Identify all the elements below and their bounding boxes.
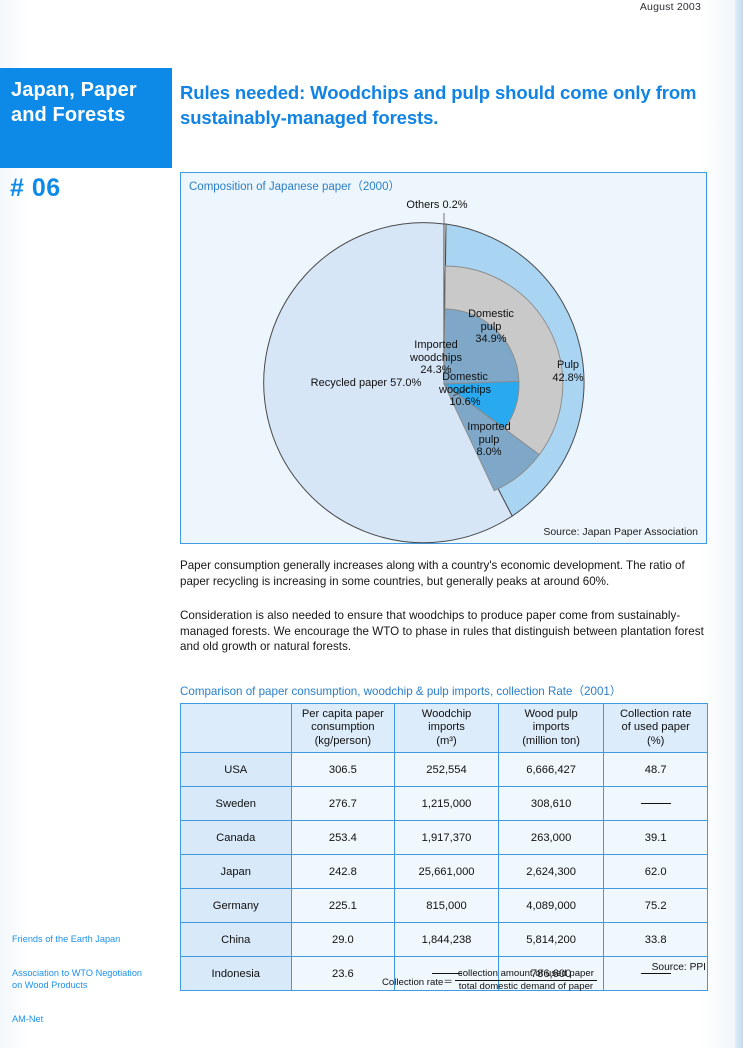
cell-country: Japan [181,855,292,889]
cell-wood-pulp-imports: 4,089,000 [498,889,604,923]
cell-per-capita: 242.8 [291,855,395,889]
cell-per-capita: 23.6 [291,957,395,991]
table-title: Comparison of paper consumption, woodchi… [180,683,621,699]
table-row: USA 306.5 252,554 6,666,427 48.7 [181,753,708,787]
cell-country: Sweden [181,787,292,821]
table-header-wood-pulp-imports: Wood pulp imports (million ton) [498,704,604,753]
collection-rate-formula: Collection rate＝ collection amount of us… [382,968,597,993]
sidebar-footer-am-net: AM-Net [12,1014,43,1026]
brand-title: Japan, Paper and Forests [11,78,172,128]
comparison-table: Per capita paper consumption (kg/person)… [180,703,708,991]
body-paragraph-1: Paper consumption generally increases al… [180,558,707,589]
cell-per-capita: 306.5 [291,753,395,787]
formula-lead: Collection rate＝ [382,974,455,988]
chart-panel: Composition of Japanese paper（2000） Ot [180,172,707,544]
cell-wood-pulp-imports: 2,624,300 [498,855,604,889]
table-header-row: Per capita paper consumption (kg/person)… [181,704,708,753]
cell-country: USA [181,753,292,787]
table-header-woodchip-imports: Woodchip imports (m³) [395,704,499,753]
cell-woodchip-imports: 252,554 [395,753,499,787]
page-headline: Rules needed: Woodchips and pulp should … [180,80,720,130]
cell-woodchip-imports: 815,000 [395,889,499,923]
cell-collection-rate: 48.7 [604,753,708,787]
pie-label-imported-pulp: Imported pulp 8.0% [453,421,525,459]
cell-country: Germany [181,889,292,923]
chart-source: Source: Japan Paper Association [543,526,698,538]
pie-chart: Others 0.2% Recycled paper 57.0% Pulp 42… [181,173,708,545]
cell-collection-rate: 75.2 [604,889,708,923]
pie-label-pulp: Pulp 42.8% [533,359,603,384]
cell-collection-rate [604,787,708,821]
table-row: Germany 225.1 815,000 4,089,000 75.2 [181,889,708,923]
table-header-per-capita: Per capita paper consumption (kg/person) [291,704,395,753]
cell-collection-rate: 62.0 [604,855,708,889]
issue-number: # 06 [10,174,61,203]
table-row: Japan 242.8 25,661,000 2,624,300 62.0 [181,855,708,889]
cell-woodchip-imports: 1,917,370 [395,821,499,855]
cell-country: Indonesia [181,957,292,991]
dash-mark [641,803,671,804]
cell-woodchip-imports: 1,844,238 [395,923,499,957]
cell-collection-rate: 33.8 [604,923,708,957]
cell-woodchip-imports: 1,215,000 [395,787,499,821]
table-body: USA 306.5 252,554 6,666,427 48.7 Sweden … [181,753,708,991]
cell-wood-pulp-imports: 308,610 [498,787,604,821]
cell-wood-pulp-imports: 6,666,427 [498,753,604,787]
brand-block: Japan, Paper and Forests [0,68,172,168]
cell-per-capita: 225.1 [291,889,395,923]
cell-country: China [181,923,292,957]
table-row: China 29.0 1,844,238 5,814,200 33.8 [181,923,708,957]
formula-numerator: collection amount of used paper [455,968,597,981]
cell-collection-rate: 39.1 [604,821,708,855]
cell-per-capita: 253.4 [291,821,395,855]
table-header-country [181,704,292,753]
publication-date: August 2003 [640,1,701,13]
formula-fraction: collection amount of used paper total do… [455,968,597,993]
cell-wood-pulp-imports: 5,814,200 [498,923,604,957]
page-right-edge-shadow [735,0,743,1048]
table-row: Canada 253.4 1,917,370 263,000 39.1 [181,821,708,855]
table-header-collection-rate: Collection rate of used paper (%) [604,704,708,753]
dash-mark [641,973,671,974]
cell-woodchip-imports: 25,661,000 [395,855,499,889]
formula-denominator: total domestic demand of paper [455,981,597,993]
pie-label-others: Others 0.2% [377,199,497,212]
cell-wood-pulp-imports: 263,000 [498,821,604,855]
table-row: Sweden 276.7 1,215,000 308,610 [181,787,708,821]
sidebar-footer-wto-association: Association to WTO Negotiation on Wood P… [12,968,142,991]
body-paragraph-2: Consideration is also needed to ensure t… [180,608,707,655]
table-source: Source: PPI [652,962,706,973]
sidebar-footer-foe-japan: Friends of the Earth Japan [12,934,120,946]
cell-country: Canada [181,821,292,855]
cell-per-capita: 276.7 [291,787,395,821]
cell-per-capita: 29.0 [291,923,395,957]
pie-label-domestic-woodchips: Domestic woodchips 10.6% [423,371,507,409]
